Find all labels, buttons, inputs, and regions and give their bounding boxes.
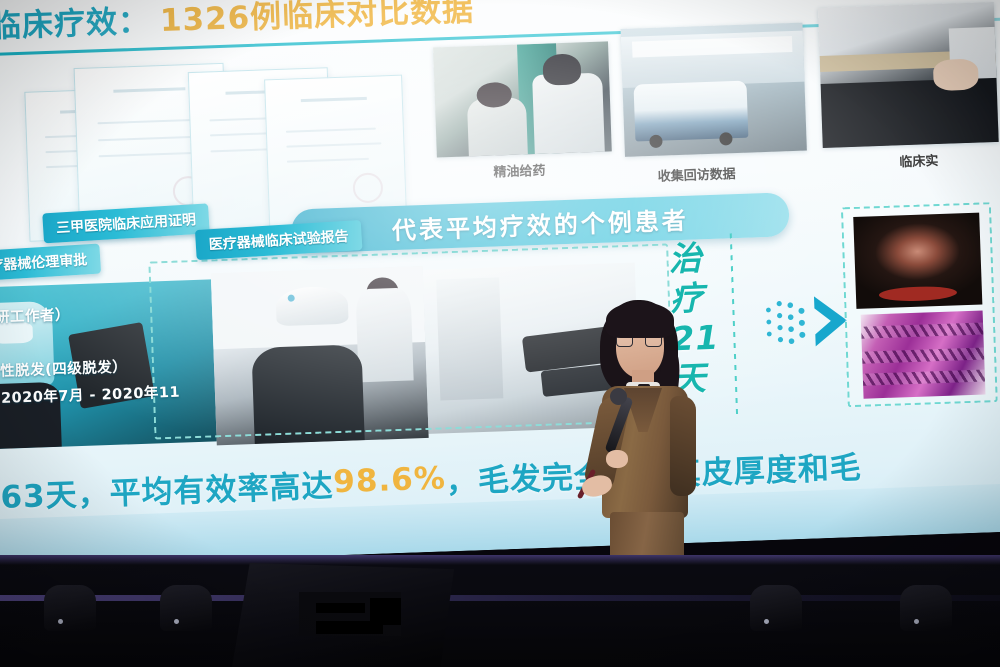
- photo-caption: 精油给药: [493, 160, 546, 181]
- patient-info-block: 43岁 科研工作者） 长：4年 型：脂溢性脱发(四级脱发） 疗时间：2020年7…: [0, 298, 192, 443]
- projection-screen: 临床疗效： 1326例临床对比数据: [0, 0, 1000, 568]
- scalp-after-photo: [853, 213, 982, 309]
- stage-light: [44, 585, 96, 631]
- slide-title-highlight: 1326例临床对比数据: [159, 0, 475, 40]
- stage-light: [160, 585, 212, 631]
- stage-floor: [0, 555, 1000, 667]
- presenter-fringe: [606, 302, 674, 338]
- presenter-right-arm: [670, 396, 696, 496]
- patient-info-line: 疗时间：2020年7月 - 2020年11月: [0, 379, 192, 442]
- treatment-line-1: 治: [668, 236, 777, 280]
- presenter-hand-mic: [606, 450, 628, 468]
- conclusion-highlight: 98.6%: [333, 460, 447, 500]
- stage-light: [900, 585, 952, 631]
- stage-light: [750, 585, 802, 631]
- stage-scene: 临床疗效： 1326例临床对比数据: [0, 0, 1000, 667]
- photo-caption: 临床实: [899, 150, 939, 170]
- section-banner-label: 代表平均疗效的个例患者: [391, 200, 689, 245]
- stage-floor-monitor: [232, 563, 454, 667]
- photo-caption: 收集回访数据: [657, 163, 736, 185]
- stage-light-rail: [0, 595, 1000, 601]
- slide-title-label: 临床疗效：: [0, 0, 151, 45]
- histology-slide-photo: [861, 311, 986, 399]
- stage-edge-light: [0, 555, 1000, 565]
- microphone-head: [610, 388, 627, 405]
- after-result-dashed-frame: [841, 202, 998, 407]
- photo-clinical-exam: [818, 2, 999, 148]
- slide-surface: 临床疗效： 1326例临床对比数据: [0, 0, 1000, 568]
- conclusion-part-1: 期63天，平均有效率高达: [0, 460, 334, 518]
- photo-oil-application: [433, 41, 612, 157]
- photo-hospital-bus: [621, 23, 807, 157]
